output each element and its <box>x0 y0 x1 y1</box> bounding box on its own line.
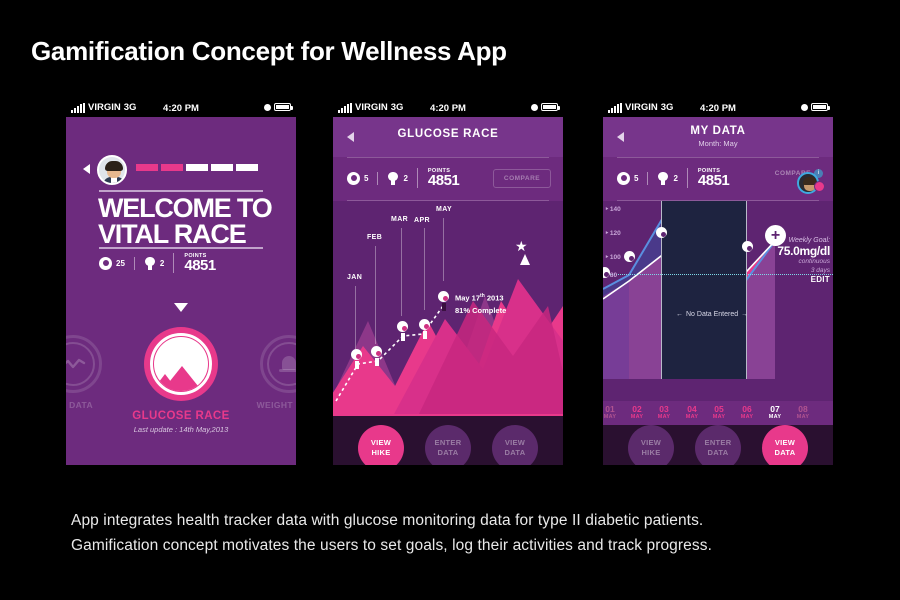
date-number: 02 <box>624 404 650 414</box>
date-cell-07[interactable]: 07 MAY <box>762 404 788 420</box>
enter-data-button[interactable]: ENTER DATA <box>425 425 471 465</box>
hub-item-glucose-race[interactable] <box>144 327 218 401</box>
view-hike-button[interactable]: VIEW HIKE <box>358 425 404 465</box>
rotation-lock-icon <box>531 104 538 111</box>
date-cell-02[interactable]: 02 MAY <box>624 404 650 420</box>
divider <box>617 157 819 158</box>
flag-triangle-icon <box>520 254 530 265</box>
enter-data-button[interactable]: ENTER DATA <box>695 425 741 465</box>
points-stat: POINTS 4851 <box>417 168 459 188</box>
progress-trail-svg <box>333 201 563 416</box>
hub-center-subtitle: Last update : 14th May,2013 <box>66 425 296 434</box>
rotation-lock-icon <box>801 104 808 111</box>
clock-label: 4:20 PM <box>66 103 296 114</box>
slide-canvas: Gamification Concept for Wellness App VI… <box>0 0 900 600</box>
points-stat: POINTS 4851 <box>687 168 729 188</box>
battery-icon <box>541 103 558 111</box>
date-month: MAY <box>603 414 623 420</box>
annotation-date: May 17th 2013 <box>455 293 504 303</box>
page-title: Gamification Concept for Wellness App <box>31 36 507 67</box>
slide-caption: App integrates health tracker data with … <box>71 508 712 558</box>
date-month: MAY <box>651 414 677 420</box>
clock-label: 4:20 PM <box>333 103 563 114</box>
navigation-bar: GLUCOSE RACE <box>333 117 563 157</box>
trail-stem-current <box>442 303 446 311</box>
hub-left-label: MY DATA <box>66 400 133 410</box>
level-progress-bar <box>136 164 258 171</box>
weekly-goal-box: Weekly Goal: 75.0mg/dl continuous 3 days… <box>777 237 830 284</box>
btn-line-1: VIEW <box>641 438 661 448</box>
badge-stat: 5 <box>617 172 647 185</box>
view-hike-button[interactable]: VIEW HIKE <box>628 425 674 465</box>
goal-edit-button[interactable]: EDIT <box>777 275 830 284</box>
trophy-count: 2 <box>673 174 677 183</box>
btn-line-1: VIEW <box>775 438 795 448</box>
goal-value: 75.0mg/dl <box>777 244 830 258</box>
compare-button[interactable]: COMPARE <box>493 169 551 188</box>
status-bar-3: VIRGIN 3G 4:20 PM <box>603 100 833 117</box>
divider-bottom <box>99 247 263 249</box>
btn-line-2: HIKE <box>371 448 390 458</box>
view-data-button[interactable]: VIEW DATA <box>492 425 538 465</box>
data-point-06[interactable] <box>742 241 753 252</box>
trail-stem <box>401 333 405 341</box>
caption-line-1: App integrates health tracker data with … <box>71 508 712 533</box>
date-cell-04[interactable]: 04 MAY <box>679 404 705 420</box>
stats-bar: 5 2 POINTS 4851 COMPAREi <box>603 157 833 201</box>
trophy-icon <box>387 172 399 185</box>
btn-line-1: VIEW <box>505 438 525 448</box>
stats-row: 5 2 POINTS 4851 <box>617 168 729 188</box>
btn-line-1: ENTER <box>435 438 462 448</box>
badge-count: 5 <box>634 174 638 183</box>
nav-title: GLUCOSE RACE <box>333 128 563 140</box>
bell-icon <box>267 342 296 386</box>
date-cell-03[interactable]: 03 MAY <box>651 404 677 420</box>
mountain-icon <box>154 337 208 391</box>
divider <box>347 157 549 158</box>
nav-subtitle: Month: May <box>603 139 833 148</box>
date-month: MAY <box>706 414 732 420</box>
points-value: 4851 <box>698 174 729 188</box>
date-month: MAY <box>679 414 705 420</box>
badge-count: 5 <box>364 174 368 183</box>
avatar[interactable] <box>97 155 127 185</box>
screen-my-data: MY DATA Month: May 5 2 POINTS <box>603 117 833 465</box>
no-data-text: No Data Entered <box>686 311 738 318</box>
points-value: 4851 <box>184 259 215 273</box>
zigzag-icon <box>66 342 95 386</box>
goal-note-2: 3 days <box>777 267 830 276</box>
trophy-icon <box>657 172 669 185</box>
status-bar-2: VIRGIN 3G 4:20 PM <box>333 100 563 117</box>
hub-right-label: WEIGHT RACE <box>229 400 296 410</box>
clock-label: 4:20 PM <box>603 103 833 114</box>
btn-line-2: DATA <box>438 448 459 458</box>
status-right <box>264 103 291 111</box>
trophy-stat: 2 <box>134 257 173 270</box>
compare-remove-badge[interactable] <box>814 181 825 192</box>
badge-icon <box>99 257 112 270</box>
hub-item-weight-race[interactable]: WEIGHT RACE <box>260 335 296 393</box>
date-number: 03 <box>651 404 677 414</box>
btn-line-1: ENTER <box>705 438 732 448</box>
annotation-year: 2013 <box>485 294 504 303</box>
trophy-count: 2 <box>160 259 164 268</box>
glucose-race-ring <box>150 333 212 395</box>
annotation-progress: 81% Complete <box>455 306 506 315</box>
navigation-bar: MY DATA Month: May <box>603 117 833 157</box>
nav-title: MY DATA <box>603 125 833 137</box>
date-cell-08[interactable]: 08 MAY <box>790 404 816 420</box>
status-bar-1: VIRGIN 3G 4:20 PM <box>66 100 296 117</box>
battery-icon <box>274 103 291 111</box>
date-cell-01[interactable]: 01 MAY <box>603 404 623 420</box>
y-axis-label-140: 140 <box>605 205 621 213</box>
divider-top <box>99 190 263 192</box>
date-month: MAY <box>734 414 760 420</box>
data-point-03[interactable] <box>656 227 667 238</box>
caption-line-2: Gamification concept motivates the users… <box>71 533 712 558</box>
stats-row: 5 2 POINTS 4851 <box>347 168 459 188</box>
annotation-date-text: May 17 <box>455 294 480 303</box>
trail-stem <box>423 331 427 339</box>
trail-point-jan[interactable] <box>351 349 362 360</box>
btn-line-2: DATA <box>775 448 796 458</box>
badge-icon <box>617 172 630 185</box>
status-right <box>531 103 558 111</box>
date-number: 06 <box>734 404 760 414</box>
trail-stem <box>355 361 359 369</box>
trophy-stat: 2 <box>377 172 416 185</box>
headline-line-2: VITAL RACE <box>98 221 272 247</box>
date-number: 07 <box>762 404 788 414</box>
goal-label: Weekly Goal: <box>777 237 830 244</box>
screen-glucose-race: GLUCOSE RACE 5 2 POINTS 4851 <box>333 117 563 465</box>
btn-line-1: VIEW <box>371 438 391 448</box>
trophy-count: 2 <box>403 174 407 183</box>
phone-mockup-3: VIRGIN 3G 4:20 PM MY DATA Month: May <box>603 100 833 465</box>
trail-point-feb[interactable] <box>371 346 382 357</box>
battery-icon <box>811 103 828 111</box>
hub-item-my-data[interactable]: MY DATA <box>66 335 102 393</box>
headline-line-1: WELCOME TO <box>98 195 272 221</box>
badge-icon <box>347 172 360 185</box>
date-month: MAY <box>624 414 650 420</box>
phone-mockup-2: VIRGIN 3G 4:20 PM GLUCOSE RACE 5 <box>333 100 563 465</box>
btn-line-2: HIKE <box>641 448 660 458</box>
trail-point-apr[interactable] <box>419 319 430 330</box>
goal-note-1: continuous <box>777 258 830 267</box>
date-number: 08 <box>790 404 816 414</box>
badge-count: 25 <box>116 259 125 268</box>
screen-home: WELCOME TO VITAL RACE 25 2 POINTS 4851 <box>66 117 296 465</box>
star-icon: ★ <box>515 238 528 254</box>
badge-stat: 25 <box>99 257 134 270</box>
view-data-button[interactable]: VIEW DATA <box>762 425 808 465</box>
date-number: 05 <box>706 404 732 414</box>
weekly-glucose-chart: ←No Data Entered→ 140 120 100 80 + Weekl… <box>603 201 833 401</box>
date-cell-05[interactable]: 05 MAY <box>706 404 732 420</box>
data-point-02[interactable] <box>624 251 635 262</box>
welcome-headline: WELCOME TO VITAL RACE <box>98 195 272 247</box>
phone-mockup-1: VIRGIN 3G 4:20 PM WELCOME TO VI <box>66 100 296 465</box>
date-month: MAY <box>762 414 788 420</box>
back-arrow-icon[interactable] <box>83 164 90 174</box>
badge-stat: 5 <box>347 172 377 185</box>
trail-point-mar[interactable] <box>397 321 408 332</box>
points-value: 4851 <box>428 174 459 188</box>
date-number: 04 <box>679 404 705 414</box>
trophy-stat: 2 <box>647 172 686 185</box>
hub-center-title: GLUCOSE RACE <box>66 410 296 422</box>
btn-line-2: DATA <box>708 448 729 458</box>
date-cell-06[interactable]: 06 MAY <box>734 404 760 420</box>
year-progress-chart: JAN FEB MAR APR MAY <box>333 201 563 416</box>
trail-stem <box>375 358 379 366</box>
y-axis-label-100: 100 <box>605 253 621 261</box>
no-data-band <box>661 201 747 379</box>
y-axis-label-120: 120 <box>605 229 621 237</box>
caret-down-icon[interactable] <box>174 303 188 312</box>
status-right <box>801 103 828 111</box>
btn-line-2: DATA <box>505 448 526 458</box>
trophy-icon <box>144 257 156 270</box>
zigzag-svg <box>66 357 86 371</box>
date-number: 01 <box>603 404 623 414</box>
points-stat: POINTS 4851 <box>173 253 215 273</box>
no-data-label: ←No Data Entered→ <box>676 311 748 318</box>
date-axis: 01 MAY 02 MAY 03 MAY 04 MAY 05 MAY <box>603 401 833 425</box>
rotation-lock-icon <box>264 104 271 111</box>
stats-row: 25 2 POINTS 4851 <box>99 253 216 273</box>
stats-bar: 5 2 POINTS 4851 COMPARE <box>333 157 563 201</box>
date-month: MAY <box>790 414 816 420</box>
trail-point-may[interactable] <box>438 291 449 302</box>
